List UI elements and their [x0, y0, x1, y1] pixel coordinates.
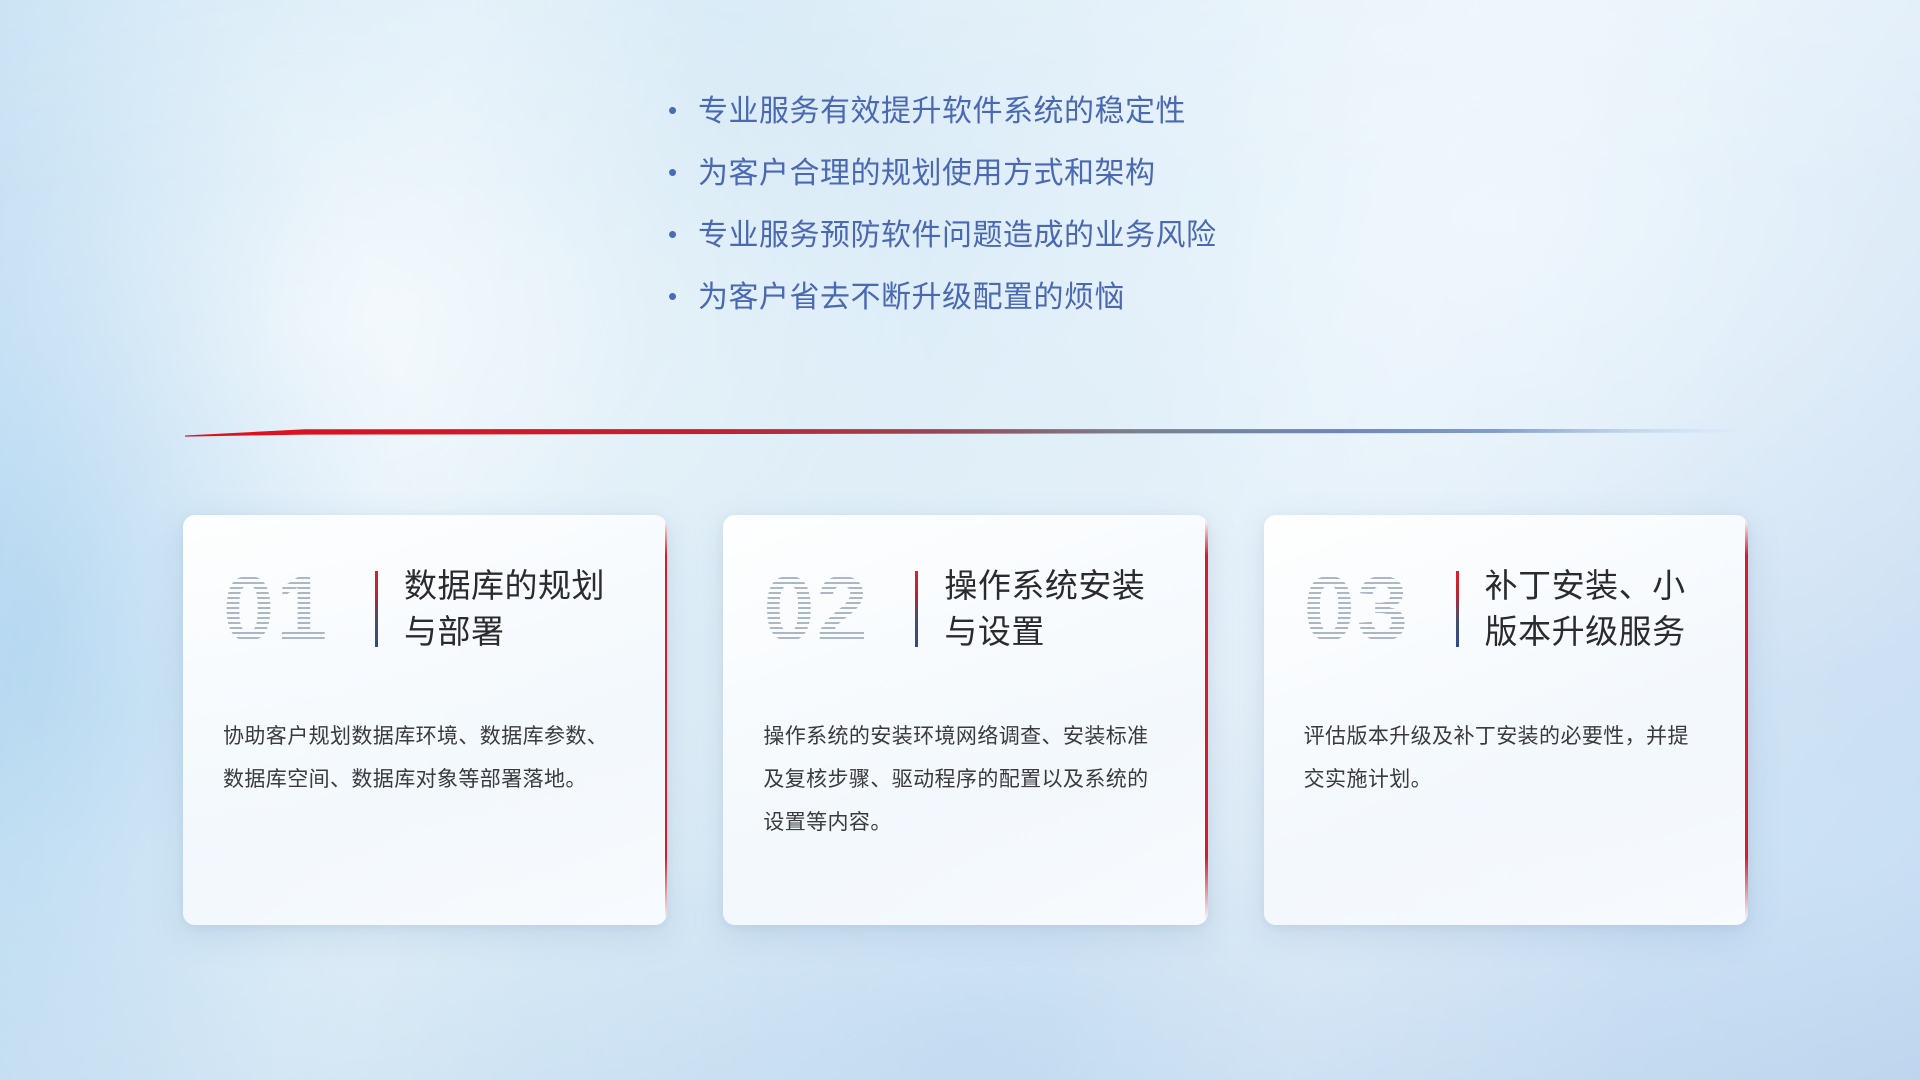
title-rule-divider: [915, 571, 918, 647]
list-item: • 为客户合理的规划使用方式和架构: [668, 154, 1428, 194]
card-header: 01 数据库的规划与部署: [223, 557, 623, 661]
card-body-text: 协助客户规划数据库环境、数据库参数、数据库空间、数据库对象等部署落地。: [223, 715, 623, 801]
card-number: 01: [223, 557, 373, 661]
bullet-dot-icon: •: [668, 283, 698, 309]
bullet-dot-icon: •: [668, 159, 698, 185]
bullet-dot-icon: •: [668, 221, 698, 247]
service-card-01[interactable]: 01 数据库的规划与部署 协助客户规划数据库环境、数据库参数、数据库空间、数据库…: [183, 515, 667, 925]
service-card-03[interactable]: 03 补丁安装、小版本升级服务 评估版本升级及补丁安装的必要性，并提交实施计划。: [1264, 515, 1748, 925]
card-header: 02 操作系统安装与设置: [763, 557, 1163, 661]
list-item: • 专业服务预防软件问题造成的业务风险: [668, 216, 1428, 256]
title-rule-divider: [1456, 571, 1459, 647]
card-title: 操作系统安装与设置: [944, 563, 1145, 655]
card-header: 03 补丁安装、小版本升级服务: [1304, 557, 1704, 661]
section-divider: [185, 425, 1745, 443]
bullet-dot-icon: •: [668, 97, 698, 123]
service-cards-row: 01 数据库的规划与部署 协助客户规划数据库环境、数据库参数、数据库空间、数据库…: [183, 515, 1748, 925]
bullet-text: 为客户合理的规划使用方式和架构: [698, 154, 1156, 194]
card-body-text: 操作系统的安装环境网络调查、安装标准及复核步骤、驱动程序的配置以及系统的设置等内…: [763, 715, 1163, 844]
card-body-text: 评估版本升级及补丁安装的必要性，并提交实施计划。: [1304, 715, 1704, 801]
bullet-text: 为客户省去不断升级配置的烦恼: [698, 278, 1125, 318]
bullet-text: 专业服务有效提升软件系统的稳定性: [698, 92, 1186, 132]
card-number: 03: [1304, 557, 1454, 661]
service-card-02[interactable]: 02 操作系统安装与设置 操作系统的安装环境网络调查、安装标准及复核步骤、驱动程…: [723, 515, 1207, 925]
card-number: 02: [763, 557, 913, 661]
card-title: 补丁安装、小版本升级服务: [1485, 563, 1686, 655]
list-item: • 专业服务有效提升软件系统的稳定性: [668, 92, 1428, 132]
title-rule-divider: [375, 571, 378, 647]
benefits-bullet-list: • 专业服务有效提升软件系统的稳定性 • 为客户合理的规划使用方式和架构 • 专…: [668, 92, 1428, 340]
bullet-text: 专业服务预防软件问题造成的业务风险: [698, 216, 1217, 256]
card-title: 数据库的规划与部署: [404, 563, 605, 655]
list-item: • 为客户省去不断升级配置的烦恼: [668, 278, 1428, 318]
